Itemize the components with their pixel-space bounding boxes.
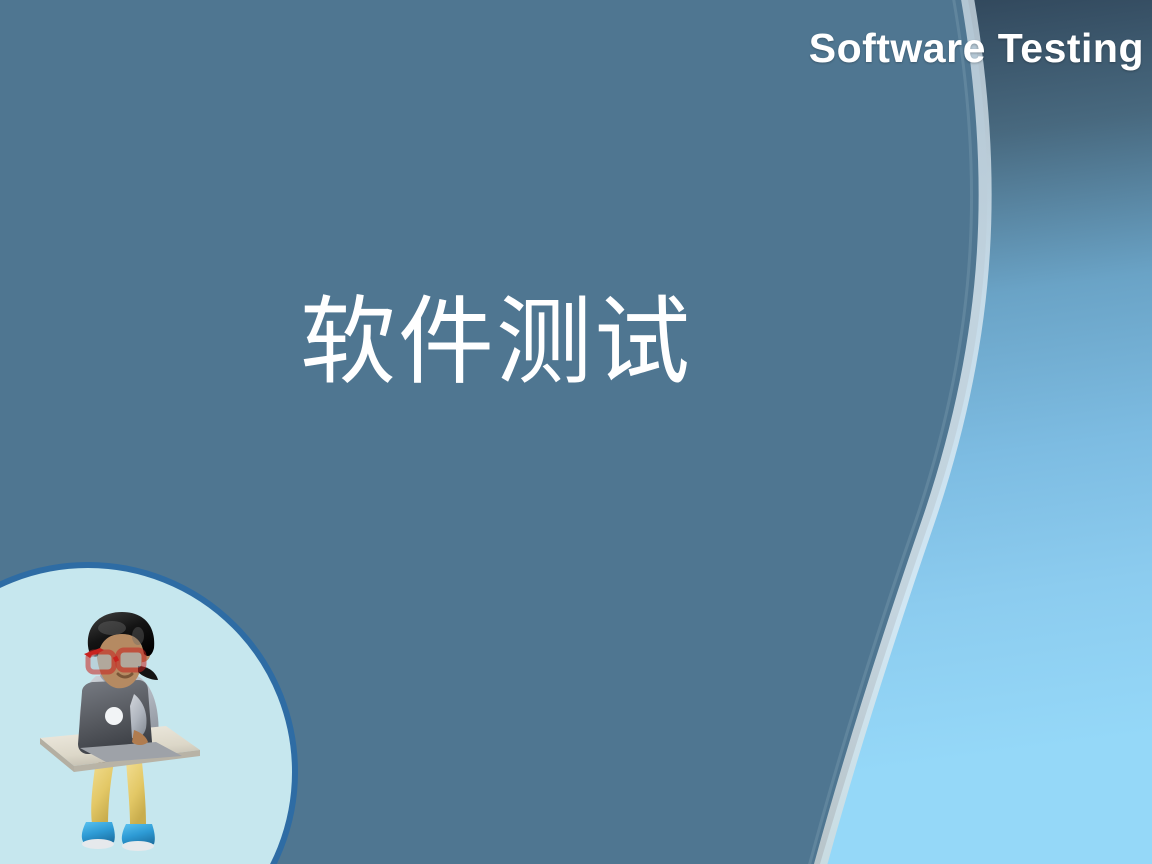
person-at-laptop-illustration	[34, 610, 214, 860]
slide-canvas: Software Testing 软件测试	[0, 0, 1152, 864]
illustration-circle-badge	[0, 562, 298, 864]
laptop	[78, 680, 182, 762]
slide-main-title: 软件测试	[300, 288, 692, 398]
swoosh-highlight	[807, 0, 985, 864]
slide-header-title: Software Testing	[809, 26, 1144, 71]
shoes	[82, 822, 155, 851]
